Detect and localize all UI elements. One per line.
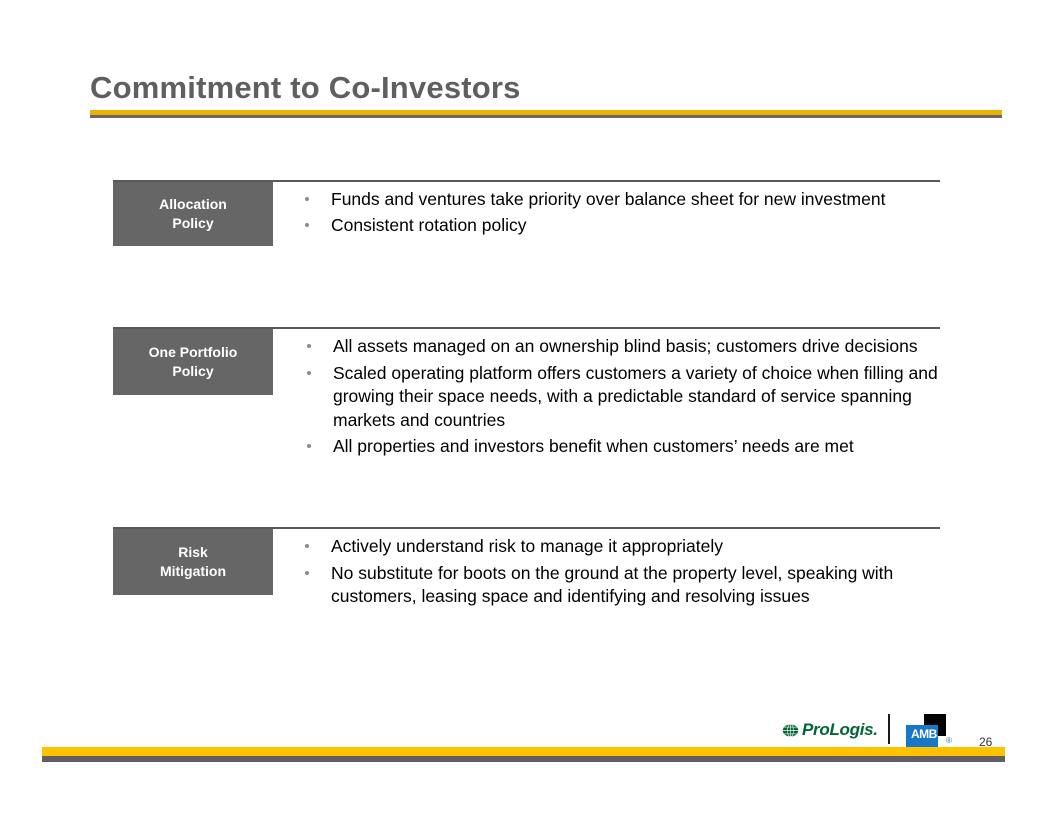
bottom-rule-gray	[42, 756, 1005, 762]
block-label-line2: Policy	[149, 362, 238, 381]
slide: Commitment to Co-Investors Allocation Po…	[0, 0, 1048, 813]
prologis-wordmark: ProLogis.	[802, 720, 878, 740]
block-label-line2: Policy	[159, 214, 227, 233]
bullet-item: No substitute for boots on the ground at…	[303, 562, 923, 609]
bullet-list-one-portfolio-policy: All assets managed on an ownership blind…	[305, 335, 965, 459]
title-underline-rule	[90, 110, 1002, 118]
block-label-line1: Allocation	[159, 195, 227, 214]
bullet-item: Actively understand risk to manage it ap…	[303, 535, 923, 559]
title-rule-gray	[90, 115, 1002, 118]
block-label-line1: One Portfolio	[149, 343, 238, 362]
bullet-item: Scaled operating platform offers custome…	[305, 362, 965, 433]
content-block-allocation-policy: Allocation Policy Funds and ventures tak…	[113, 180, 940, 260]
content-block-risk-mitigation: Risk Mitigation Actively understand risk…	[113, 527, 940, 627]
bullet-item: All assets managed on an ownership blind…	[305, 335, 965, 359]
bullet-item: All properties and investors benefit whe…	[305, 435, 965, 459]
logo-divider	[888, 714, 890, 744]
registered-trademark-icon: ®	[946, 736, 952, 745]
block-label-risk-mitigation: Risk Mitigation	[113, 529, 273, 595]
bottom-rule	[42, 747, 1005, 762]
amb-wordmark: AMB	[911, 727, 937, 741]
bullet-list-allocation-policy: Funds and ventures take priority over ba…	[303, 188, 943, 237]
bullet-list-risk-mitigation: Actively understand risk to manage it ap…	[303, 535, 923, 609]
globe-icon	[782, 722, 799, 739]
block-label-one-portfolio-policy: One Portfolio Policy	[113, 329, 273, 395]
block-label-line2: Mitigation	[160, 562, 226, 581]
prologis-logo: ProLogis.	[782, 720, 878, 740]
block-label-line1: Risk	[160, 543, 226, 562]
block-label-allocation-policy: Allocation Policy	[113, 182, 273, 246]
bottom-rule-gold	[42, 747, 1005, 756]
bullet-item: Consistent rotation policy	[303, 214, 943, 238]
content-block-one-portfolio-policy: One Portfolio Policy All assets managed …	[113, 327, 940, 472]
amb-logo: AMB ®	[906, 714, 952, 748]
page-title: Commitment to Co-Investors	[90, 70, 521, 106]
bullet-item: Funds and ventures take priority over ba…	[303, 188, 943, 212]
